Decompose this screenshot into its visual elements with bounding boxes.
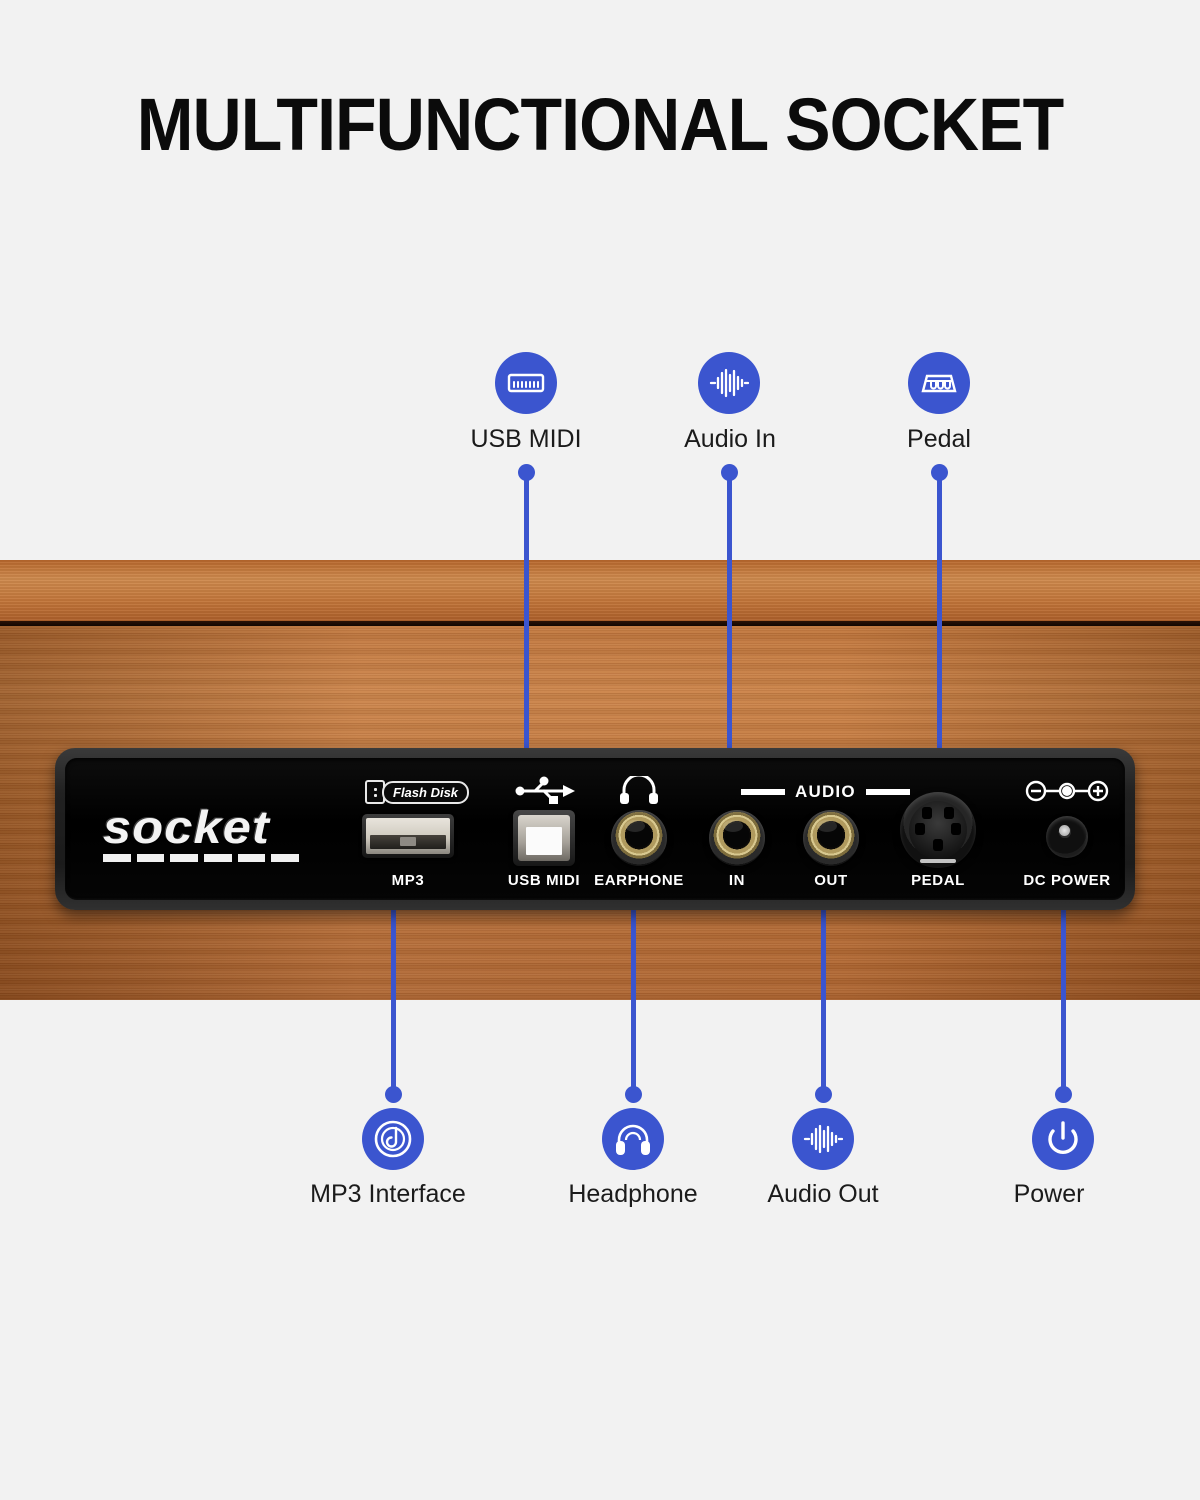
flash-disk-badge: Flash Disk <box>365 780 469 804</box>
power-icon <box>1046 1121 1080 1157</box>
earphone-jack[interactable] <box>611 810 667 866</box>
waveform-icon <box>709 368 749 398</box>
audio-in-jack[interactable] <box>709 810 765 866</box>
dc-polarity-icon <box>1025 778 1109 809</box>
callout-label-power: Power <box>949 1180 1149 1209</box>
pedal-icon <box>919 369 959 397</box>
callout-icon-usb-midi[interactable] <box>495 352 557 414</box>
callout-dot-power <box>1055 1086 1072 1103</box>
callout-icon-headphone[interactable] <box>602 1108 664 1170</box>
disc-icon <box>374 1120 412 1158</box>
port-label-pedal: PEDAL <box>911 872 965 889</box>
callout-dot-audio-in <box>721 464 738 481</box>
flash-disk-label: Flash Disk <box>382 781 469 804</box>
port-label-in: IN <box>729 872 745 889</box>
usb-a-port[interactable] <box>362 814 454 858</box>
port-label-earphone: EARPHONE <box>594 872 684 889</box>
wood-top-lip <box>0 560 1200 626</box>
port-label-mp3: MP3 <box>392 872 425 889</box>
dc-power-jack[interactable] <box>1046 816 1088 858</box>
usb-a-tongue <box>370 835 446 849</box>
usb-a-port-inner <box>366 818 450 854</box>
audio-rule-right <box>866 789 910 795</box>
socket-panel: socket Flash Disk MP3 <box>55 748 1135 910</box>
callout-icon-audio-in[interactable] <box>698 352 760 414</box>
headphone-glyph-icon <box>619 776 659 809</box>
headphone-icon <box>614 1122 652 1156</box>
socket-brand: socket <box>103 804 318 862</box>
callout-dot-pedal <box>931 464 948 481</box>
pedal-din-inner <box>909 801 967 859</box>
pedal-din-jack[interactable] <box>900 792 976 868</box>
callout-label-usb-midi: USB MIDI <box>426 425 626 454</box>
audio-out-jack[interactable] <box>803 810 859 866</box>
page-title: MULTIFUNCTIONAL SOCKET <box>48 82 1152 167</box>
infographic-stage: MULTIFUNCTIONAL SOCKET socket Flash Disk <box>0 0 1200 1500</box>
socket-panel-face: socket Flash Disk MP3 <box>65 758 1125 900</box>
callout-label-audio-out: Audio Out <box>723 1180 923 1209</box>
port-label-dc-power: DC POWER <box>1023 872 1110 889</box>
audio-header-label: AUDIO <box>795 782 856 802</box>
usb-trident-icon <box>511 776 577 811</box>
callout-icon-pedal[interactable] <box>908 352 970 414</box>
callout-dot-audio-out <box>815 1086 832 1103</box>
audio-section-header: AUDIO <box>741 782 910 802</box>
callout-icon-audio-out[interactable] <box>792 1108 854 1170</box>
callout-dot-usb-midi <box>518 464 535 481</box>
socket-brand-underline <box>103 854 299 862</box>
usb-b-port[interactable] <box>513 810 575 866</box>
callout-dot-mp3 <box>385 1086 402 1103</box>
callout-label-audio-in: Audio In <box>630 425 830 454</box>
port-label-usb-midi: USB MIDI <box>508 872 580 889</box>
audio-rule-left <box>741 789 785 795</box>
waveform-icon <box>803 1124 843 1154</box>
callout-icon-power[interactable] <box>1032 1108 1094 1170</box>
callout-label-pedal: Pedal <box>839 425 1039 454</box>
callout-icon-mp3[interactable] <box>362 1108 424 1170</box>
callout-label-headphone: Headphone <box>533 1180 733 1209</box>
usb-b-port-inner <box>518 815 570 861</box>
port-label-out: OUT <box>814 872 847 889</box>
socket-brand-text: socket <box>103 804 340 850</box>
usb-midi-icon <box>507 369 545 397</box>
callout-dot-headphone <box>625 1086 642 1103</box>
callout-label-mp3: MP3 Interface <box>288 1180 488 1209</box>
